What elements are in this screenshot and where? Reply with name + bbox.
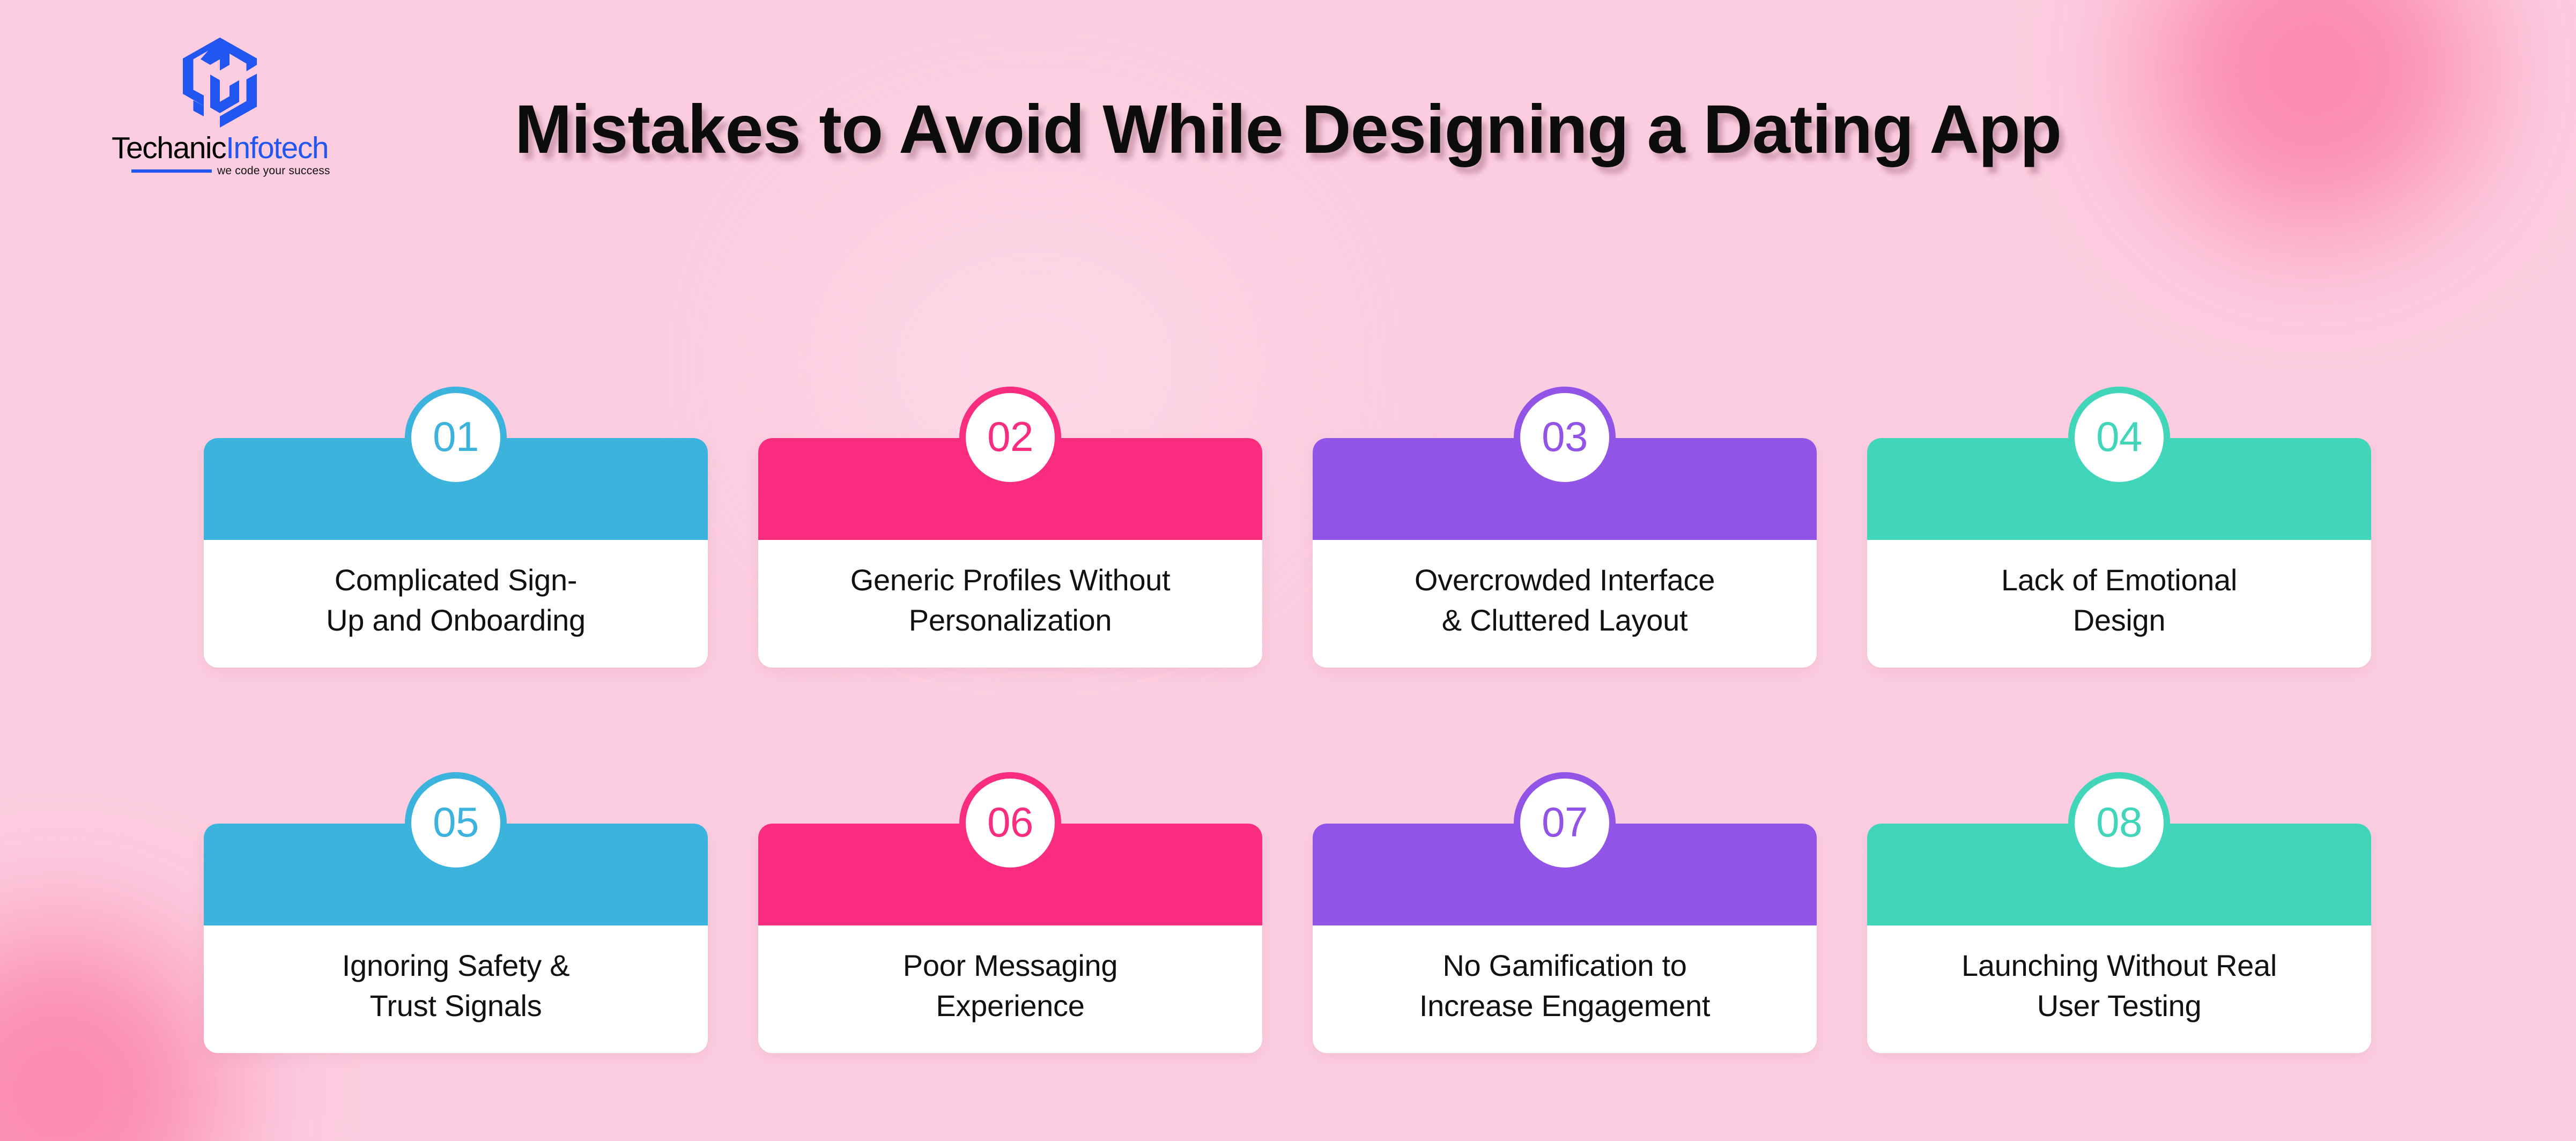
- card-label-line1: Overcrowded Interface: [1415, 563, 1715, 597]
- card-label-line1: Complicated Sign-: [335, 563, 577, 597]
- card-label-line1: Generic Profiles Without: [850, 563, 1171, 597]
- card-label-line2: Experience: [936, 989, 1084, 1023]
- card-number-badge: 02: [959, 387, 1061, 488]
- card-label: Lack of EmotionalDesign: [1889, 540, 2350, 668]
- mistake-card[interactable]: Complicated Sign-Up and Onboarding 01: [204, 438, 708, 668]
- card-label: No Gamification toIncrease Engagement: [1334, 925, 1795, 1053]
- card-number: 03: [1520, 393, 1609, 482]
- card-label: Complicated Sign-Up and Onboarding: [225, 540, 686, 668]
- card-label: Poor MessagingExperience: [780, 925, 1241, 1053]
- card-number: 04: [2075, 393, 2164, 482]
- page-title: Mistakes to Avoid While Designing a Dati…: [0, 90, 2576, 169]
- card-number-badge: 07: [1514, 772, 1616, 874]
- mistake-card[interactable]: Ignoring Safety &Trust Signals 05: [204, 824, 708, 1053]
- card-number-badge: 04: [2068, 387, 2170, 488]
- card-number: 06: [966, 779, 1055, 868]
- card-number-badge: 08: [2068, 772, 2170, 874]
- card-label-line1: Ignoring Safety &: [342, 949, 570, 982]
- card-number: 02: [966, 393, 1055, 482]
- mistake-card[interactable]: Launching Without RealUser Testing 08: [1867, 824, 2371, 1053]
- card-number: 01: [411, 393, 500, 482]
- mistakes-card-grid: Complicated Sign-Up and Onboarding 01 Ge…: [204, 360, 2372, 1053]
- mistake-card[interactable]: Poor MessagingExperience 06: [758, 824, 1262, 1053]
- card-label-line2: Up and Onboarding: [326, 603, 586, 637]
- card-label-line1: Poor Messaging: [903, 949, 1117, 982]
- card-label: Overcrowded Interface& Cluttered Layout: [1334, 540, 1795, 668]
- card-number-badge: 03: [1514, 387, 1616, 488]
- card-label-line1: No Gamification to: [1442, 949, 1686, 982]
- card-label-line2: Design: [2073, 603, 2166, 637]
- card-number: 05: [411, 779, 500, 868]
- brand-rule-divider: [131, 169, 212, 173]
- card-number: 08: [2075, 779, 2164, 868]
- card-label-line2: User Testing: [2037, 989, 2202, 1023]
- background-blob-bottom-left: [0, 927, 225, 1141]
- mistake-card[interactable]: Generic Profiles WithoutPersonalization …: [758, 438, 1262, 668]
- card-label-line2: Personalization: [909, 603, 1112, 637]
- card-label-line1: Lack of Emotional: [2001, 563, 2237, 597]
- card-label-line2: & Cluttered Layout: [1442, 603, 1687, 637]
- mistake-card[interactable]: Lack of EmotionalDesign 04: [1867, 438, 2371, 668]
- mistake-card[interactable]: No Gamification toIncrease Engagement 07: [1313, 824, 1817, 1053]
- card-number-badge: 06: [959, 772, 1061, 874]
- card-number: 07: [1520, 779, 1609, 868]
- card-label-line1: Launching Without Real: [1961, 949, 2277, 982]
- card-label: Launching Without RealUser Testing: [1889, 925, 2350, 1053]
- card-number-badge: 05: [405, 772, 507, 874]
- page-header: TechanicInfotech we code your success Mi…: [0, 0, 2576, 225]
- card-number-badge: 01: [405, 387, 507, 488]
- card-label-line2: Trust Signals: [370, 989, 542, 1023]
- card-label: Generic Profiles WithoutPersonalization: [780, 540, 1241, 668]
- mistake-card[interactable]: Overcrowded Interface& Cluttered Layout …: [1313, 438, 1817, 668]
- card-label: Ignoring Safety &Trust Signals: [225, 925, 686, 1053]
- card-label-line2: Increase Engagement: [1419, 989, 1710, 1023]
